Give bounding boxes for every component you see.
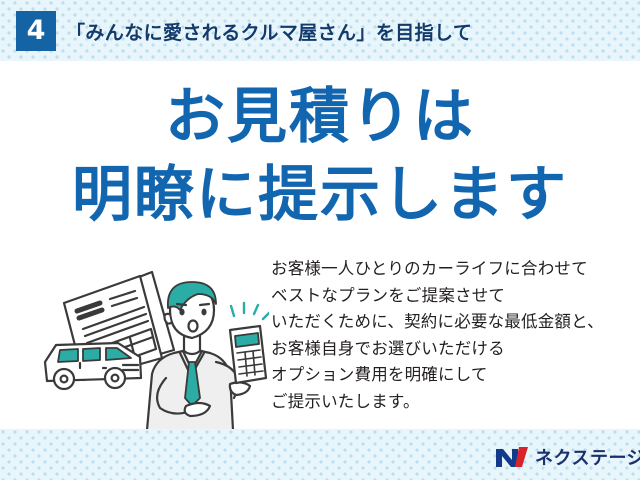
headline-line-1: お見積りは <box>0 86 640 148</box>
advertisement-page: 4 「みんなに愛されるクルマ屋さん」を目指して お見積りは 明瞭に提示します お… <box>0 0 640 480</box>
body-line: ご提示いたします。 <box>271 389 631 416</box>
nextage-n-mark-icon <box>495 445 529 469</box>
brand-logo: ネクステージ <box>495 444 640 470</box>
illustration-svg <box>34 258 269 430</box>
header-title: 「みんなに愛されるクルマ屋さん」を目指して <box>66 18 472 45</box>
illustration <box>34 258 269 430</box>
calculator <box>230 326 266 383</box>
sparkle <box>231 303 269 319</box>
van <box>45 343 141 389</box>
body-copy: お客様一人ひとりのカーライフに合わせて ベストなプランをご提案させて いただくた… <box>271 256 631 415</box>
body-line: お客様一人ひとりのカーライフに合わせて <box>271 256 631 283</box>
body-line: オプション費用を明確にして <box>271 362 631 389</box>
body-line: お客様自身でお選びいただける <box>271 336 631 363</box>
section-number-badge: 4 <box>16 11 56 51</box>
body-line: ベストなプランをご提案させて <box>271 283 631 310</box>
brand-name: ネクステージ <box>535 444 640 470</box>
body-line: いただくために、契約に必要な最低金額と、 <box>271 309 631 336</box>
headline-line-2: 明瞭に提示します <box>0 164 640 226</box>
